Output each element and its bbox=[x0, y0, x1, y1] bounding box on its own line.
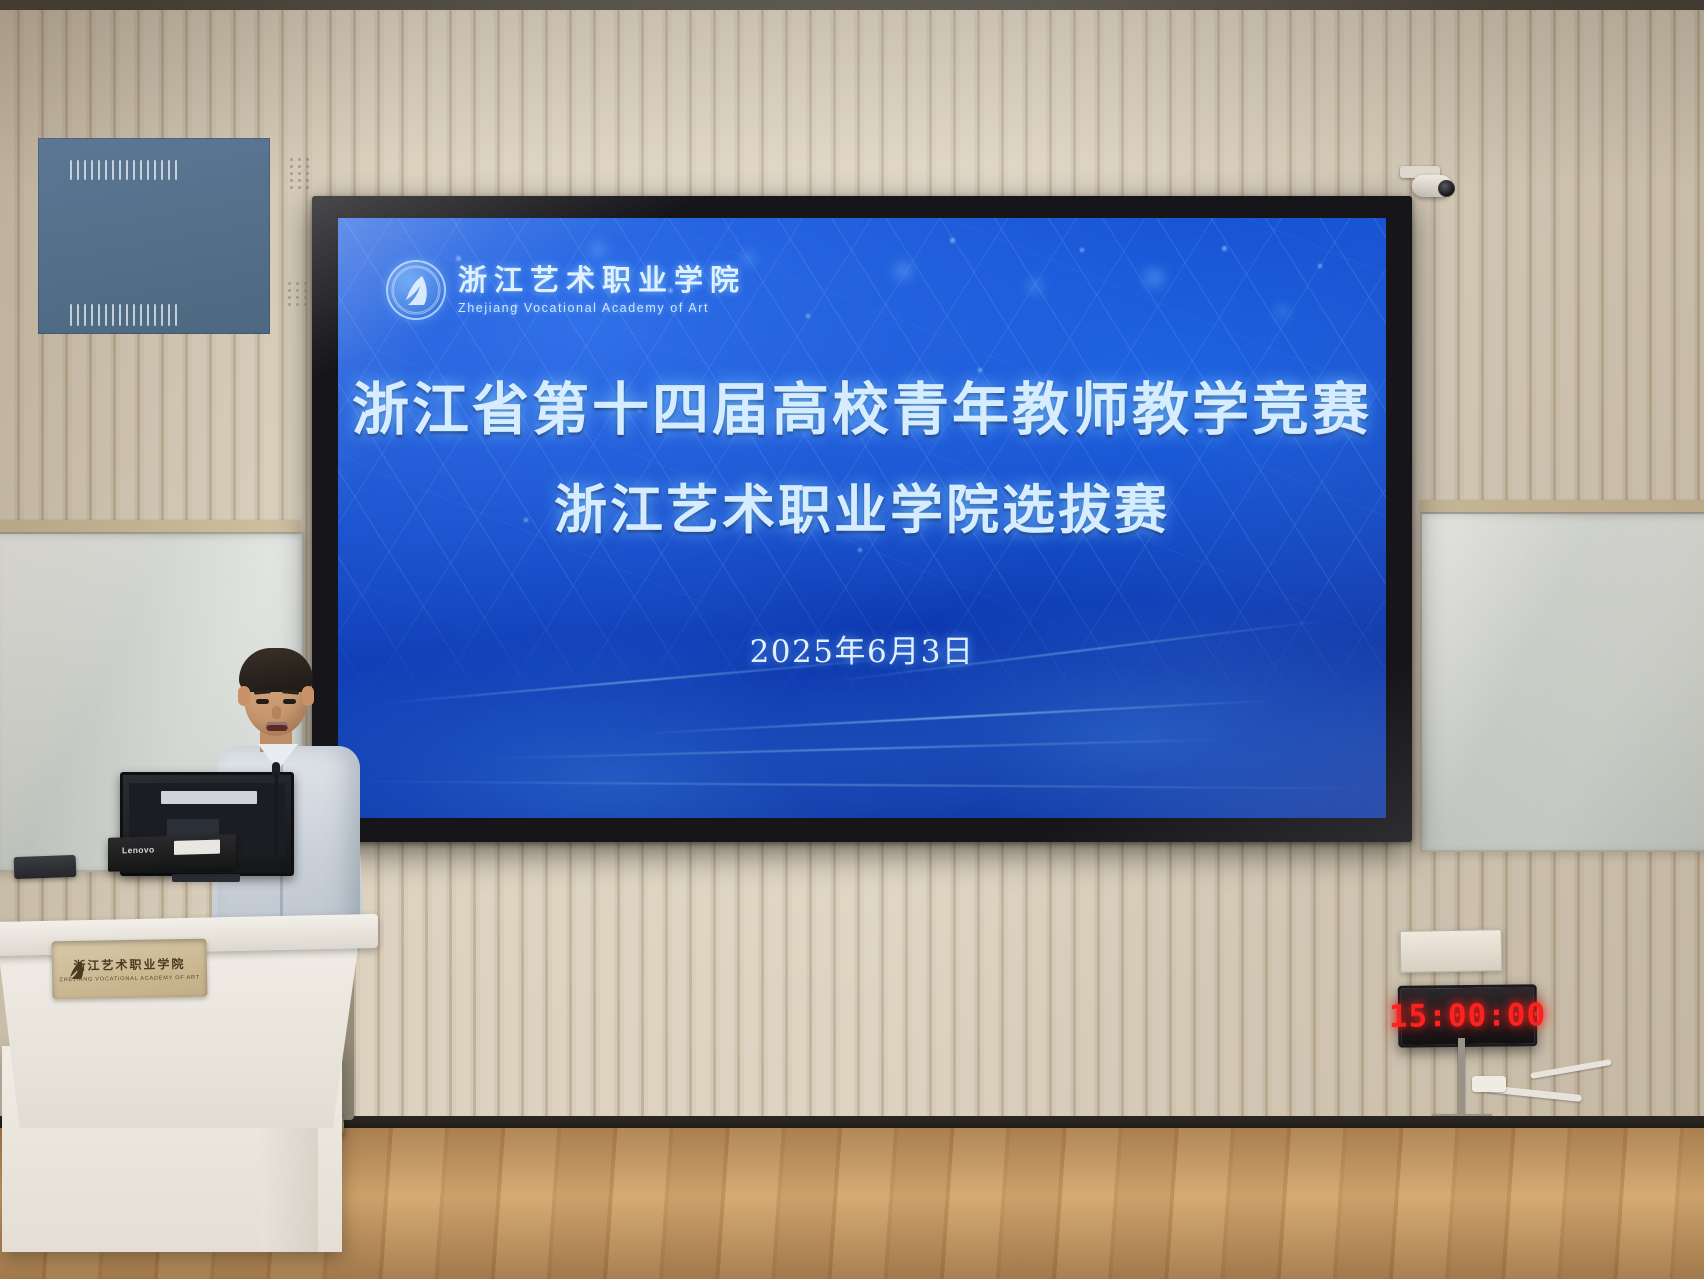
presenter-ear-left bbox=[238, 686, 250, 706]
board-sheen-right bbox=[1422, 514, 1704, 850]
podium-metal-panel bbox=[38, 138, 270, 334]
plaque-text-cn: 浙江艺术职业学院 bbox=[73, 955, 185, 974]
monitor-stand bbox=[172, 874, 240, 882]
slide-title-line-2: 浙江艺术职业学院选拔赛 bbox=[338, 468, 1386, 544]
presenter-nose bbox=[272, 706, 281, 719]
clock-display: 15:00:00 bbox=[1389, 997, 1547, 1035]
board-trim-left bbox=[0, 520, 300, 532]
ceiling-edge bbox=[0, 0, 1704, 10]
podium-perforations bbox=[290, 158, 310, 189]
presenter-eye-right bbox=[283, 699, 296, 704]
vent-slots-bottom bbox=[70, 304, 177, 326]
gooseneck-microphone[interactable] bbox=[272, 762, 280, 854]
presenter-ear-right bbox=[302, 686, 314, 706]
lecture-hall-scene: 浙江艺术职业学院 Zhejiang Vocational Academy of … bbox=[0, 0, 1704, 1279]
lenovo-laptop[interactable]: Lenovo bbox=[108, 834, 236, 872]
slide-logo-name-en: Zhejiang Vocational Academy of Art bbox=[458, 302, 746, 315]
slide-title-block: 浙江省第十四届高校青年教师教学竞赛 浙江艺术职业学院选拔赛 bbox=[338, 364, 1386, 544]
dancer-plaque-icon bbox=[64, 959, 88, 983]
slide-logo-name-cn: 浙江艺术职业学院 bbox=[458, 266, 746, 295]
presenter-eye-left bbox=[256, 699, 269, 704]
wall-plate bbox=[1400, 929, 1503, 973]
projection-screen[interactable]: 浙江艺术职业学院 Zhejiang Vocational Academy of … bbox=[338, 218, 1386, 818]
whiteboard-panel-right bbox=[1420, 512, 1704, 852]
board-trim-right bbox=[1420, 500, 1704, 512]
slide-title-line-1: 浙江省第十四届高校青年教师教学竞赛 bbox=[338, 364, 1386, 446]
presenter-mouth bbox=[266, 722, 288, 731]
dancer-emblem-icon bbox=[386, 260, 446, 320]
monitor-content-bar bbox=[161, 791, 257, 804]
vent-slots-top bbox=[70, 160, 177, 180]
podium-plaque: 浙江艺术职业学院 ZHEJIANG VOCATIONAL ACADEMY OF … bbox=[52, 939, 208, 1000]
presenter-hair bbox=[239, 648, 313, 692]
laptop-asset-tag bbox=[174, 840, 220, 855]
projection-screen-frame: 浙江艺术职业学院 Zhejiang Vocational Academy of … bbox=[312, 196, 1412, 842]
podium-accessory bbox=[14, 855, 77, 879]
power-adapter bbox=[1472, 1076, 1506, 1092]
slide-wave-decoration bbox=[338, 588, 1386, 818]
slide-logo: 浙江艺术职业学院 Zhejiang Vocational Academy of … bbox=[386, 260, 746, 320]
laptop-brand-label: Lenovo bbox=[122, 844, 155, 855]
microphone-stem bbox=[275, 772, 278, 856]
podium-perforations-lower bbox=[288, 282, 308, 306]
camera-lens bbox=[1438, 180, 1455, 197]
